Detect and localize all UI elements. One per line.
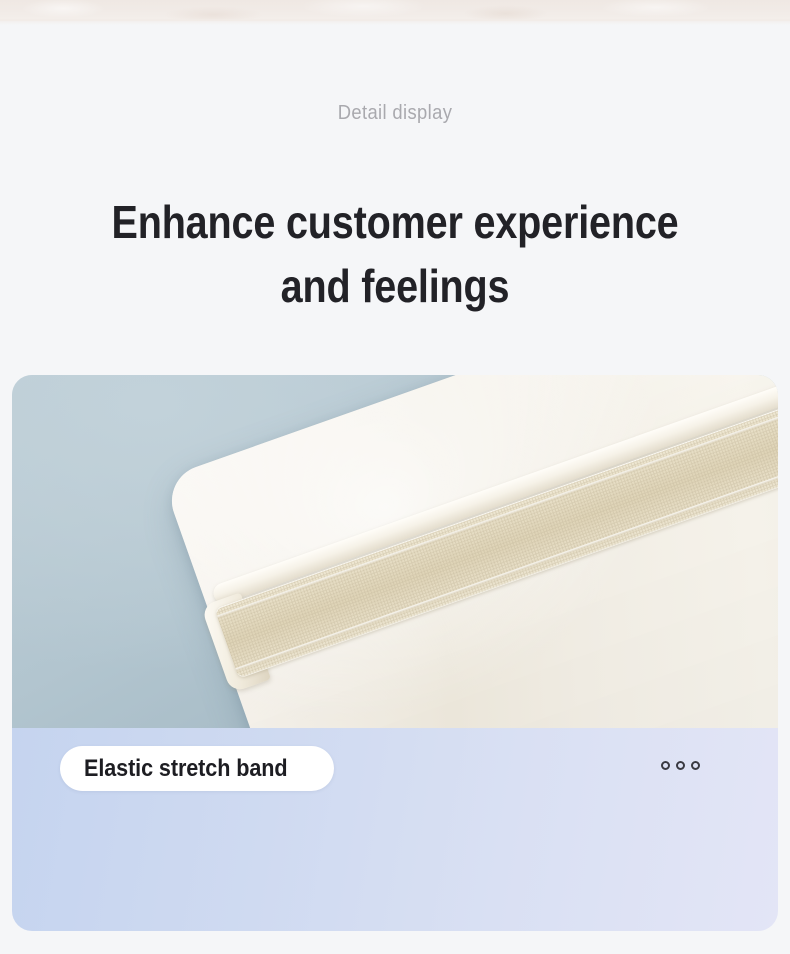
feature-info-panel: Elastic stretch band The back comes with… <box>12 728 778 931</box>
top-strip-fade <box>0 19 790 25</box>
page-title: Enhance customer experience and feelings <box>55 190 734 318</box>
product-photo <box>12 375 778 728</box>
product-detail-card: Elastic stretch band The back comes with… <box>12 375 778 931</box>
laptop-sleeve-graphic <box>162 375 778 728</box>
top-texture-strip <box>0 0 790 21</box>
feature-badge-label: Elastic stretch band <box>84 755 287 783</box>
feature-badge[interactable]: Elastic stretch band <box>60 746 334 791</box>
circle-icon-1 <box>661 761 670 770</box>
circle-icon-2 <box>676 761 685 770</box>
section-eyebrow: Detail display <box>32 102 759 125</box>
page-title-line-2: and feelings <box>55 254 734 318</box>
page-title-line-1: Enhance customer experience <box>55 190 734 254</box>
circle-icon-3 <box>691 761 700 770</box>
three-circles-icon <box>661 761 700 770</box>
